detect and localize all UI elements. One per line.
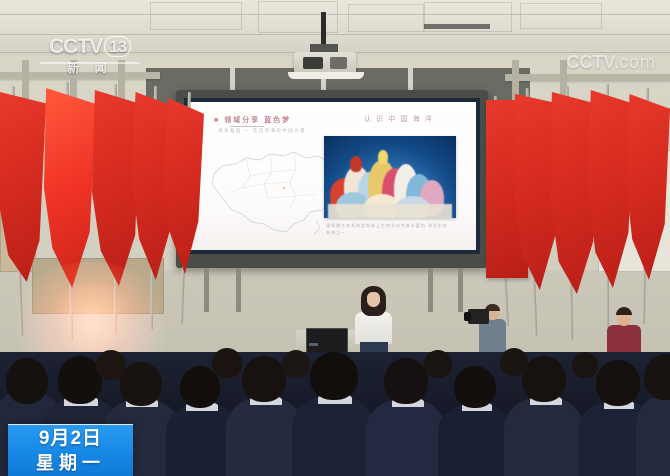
cctv-com-watermark: CCTV.com	[566, 52, 656, 73]
cctv13-logo: CCTV13 新 闻	[32, 36, 148, 82]
screen-display-area: ■ 领域分享 蓝色梦 海洋强国 — 走向深海的中国力量 认 识 中 国 海 洋	[184, 98, 480, 254]
audience-member	[212, 348, 242, 378]
screen-support-leg	[428, 268, 433, 312]
audience-member	[572, 352, 598, 378]
audience-member	[438, 404, 514, 476]
podium-monitor	[306, 328, 348, 354]
monitor-indicator-icon	[309, 343, 318, 346]
logo-channel-number: 13	[104, 36, 131, 57]
flag-rail-right	[505, 74, 670, 81]
logo-cctv-text: CCTV	[49, 35, 102, 58]
projector-pole	[321, 12, 326, 46]
date-weekday: 星期一	[36, 451, 105, 475]
audience-member	[596, 360, 640, 406]
presenter-face	[367, 292, 380, 307]
logo-underline	[40, 62, 140, 64]
ceiling-tile	[150, 2, 242, 30]
slide-caption: 珊瑚礁生态系统是地球上生物多样性最丰富的 海洋生态 系统之一	[326, 222, 454, 236]
audience-member	[96, 350, 126, 380]
projector-lens-icon	[303, 57, 323, 69]
camera-lens-icon	[464, 312, 471, 321]
screen-support-leg	[204, 268, 209, 312]
audience-member	[282, 350, 310, 378]
audience-member	[424, 350, 452, 378]
watermark-com-text: com	[619, 52, 656, 72]
audience-member	[636, 396, 670, 476]
coral-reef-photo	[324, 136, 456, 218]
audience-member	[310, 352, 358, 400]
broadcast-frame: ■ 领域分享 蓝色梦 海洋强国 — 走向深海的中国力量 认 识 中 国 海 洋	[0, 0, 670, 476]
audience-member	[454, 366, 496, 408]
video-camera-icon	[468, 309, 489, 324]
audience-member	[384, 358, 428, 404]
date-badge: 9月2日 星期一	[8, 424, 133, 476]
audience-member	[242, 356, 286, 402]
audience-member	[522, 356, 566, 402]
projector-base-plate	[288, 72, 364, 79]
watermark-cctv-text: CCTV	[566, 52, 615, 72]
slide-subtitle-left: 海洋强国 — 走向深海的中国力量	[218, 128, 306, 134]
ceiling-tile	[348, 4, 424, 32]
audience-member	[366, 400, 446, 476]
ceiling-tile	[258, 1, 338, 33]
presenter-body	[355, 312, 392, 344]
audience-member	[500, 348, 528, 376]
slide-divider	[230, 126, 264, 127]
ceiling-tile	[520, 3, 602, 29]
presentation-slide: ■ 领域分享 蓝色梦 海洋强国 — 走向深海的中国力量 认 识 中 国 海 洋	[188, 102, 476, 250]
audience-member	[6, 358, 48, 404]
screen-support-leg	[458, 268, 463, 312]
screen-support-leg	[236, 268, 241, 312]
audience-member	[120, 362, 162, 406]
slide-title-left: ■ 领域分享 蓝色梦	[214, 115, 291, 125]
camera-operator-body	[479, 319, 506, 355]
date-primary: 9月2日	[39, 427, 102, 451]
wall-wainscot-left	[32, 258, 164, 314]
slide-title-right: 认 识 中 国 海 洋	[364, 114, 433, 124]
audience-member	[292, 396, 374, 476]
projector-vent-icon	[330, 57, 347, 69]
projection-screen: ■ 领域分享 蓝色梦 海洋强国 — 走向深海的中国力量 认 识 中 国 海 洋	[176, 90, 488, 268]
ceiling-vent	[424, 24, 490, 29]
audience-member	[504, 398, 584, 476]
